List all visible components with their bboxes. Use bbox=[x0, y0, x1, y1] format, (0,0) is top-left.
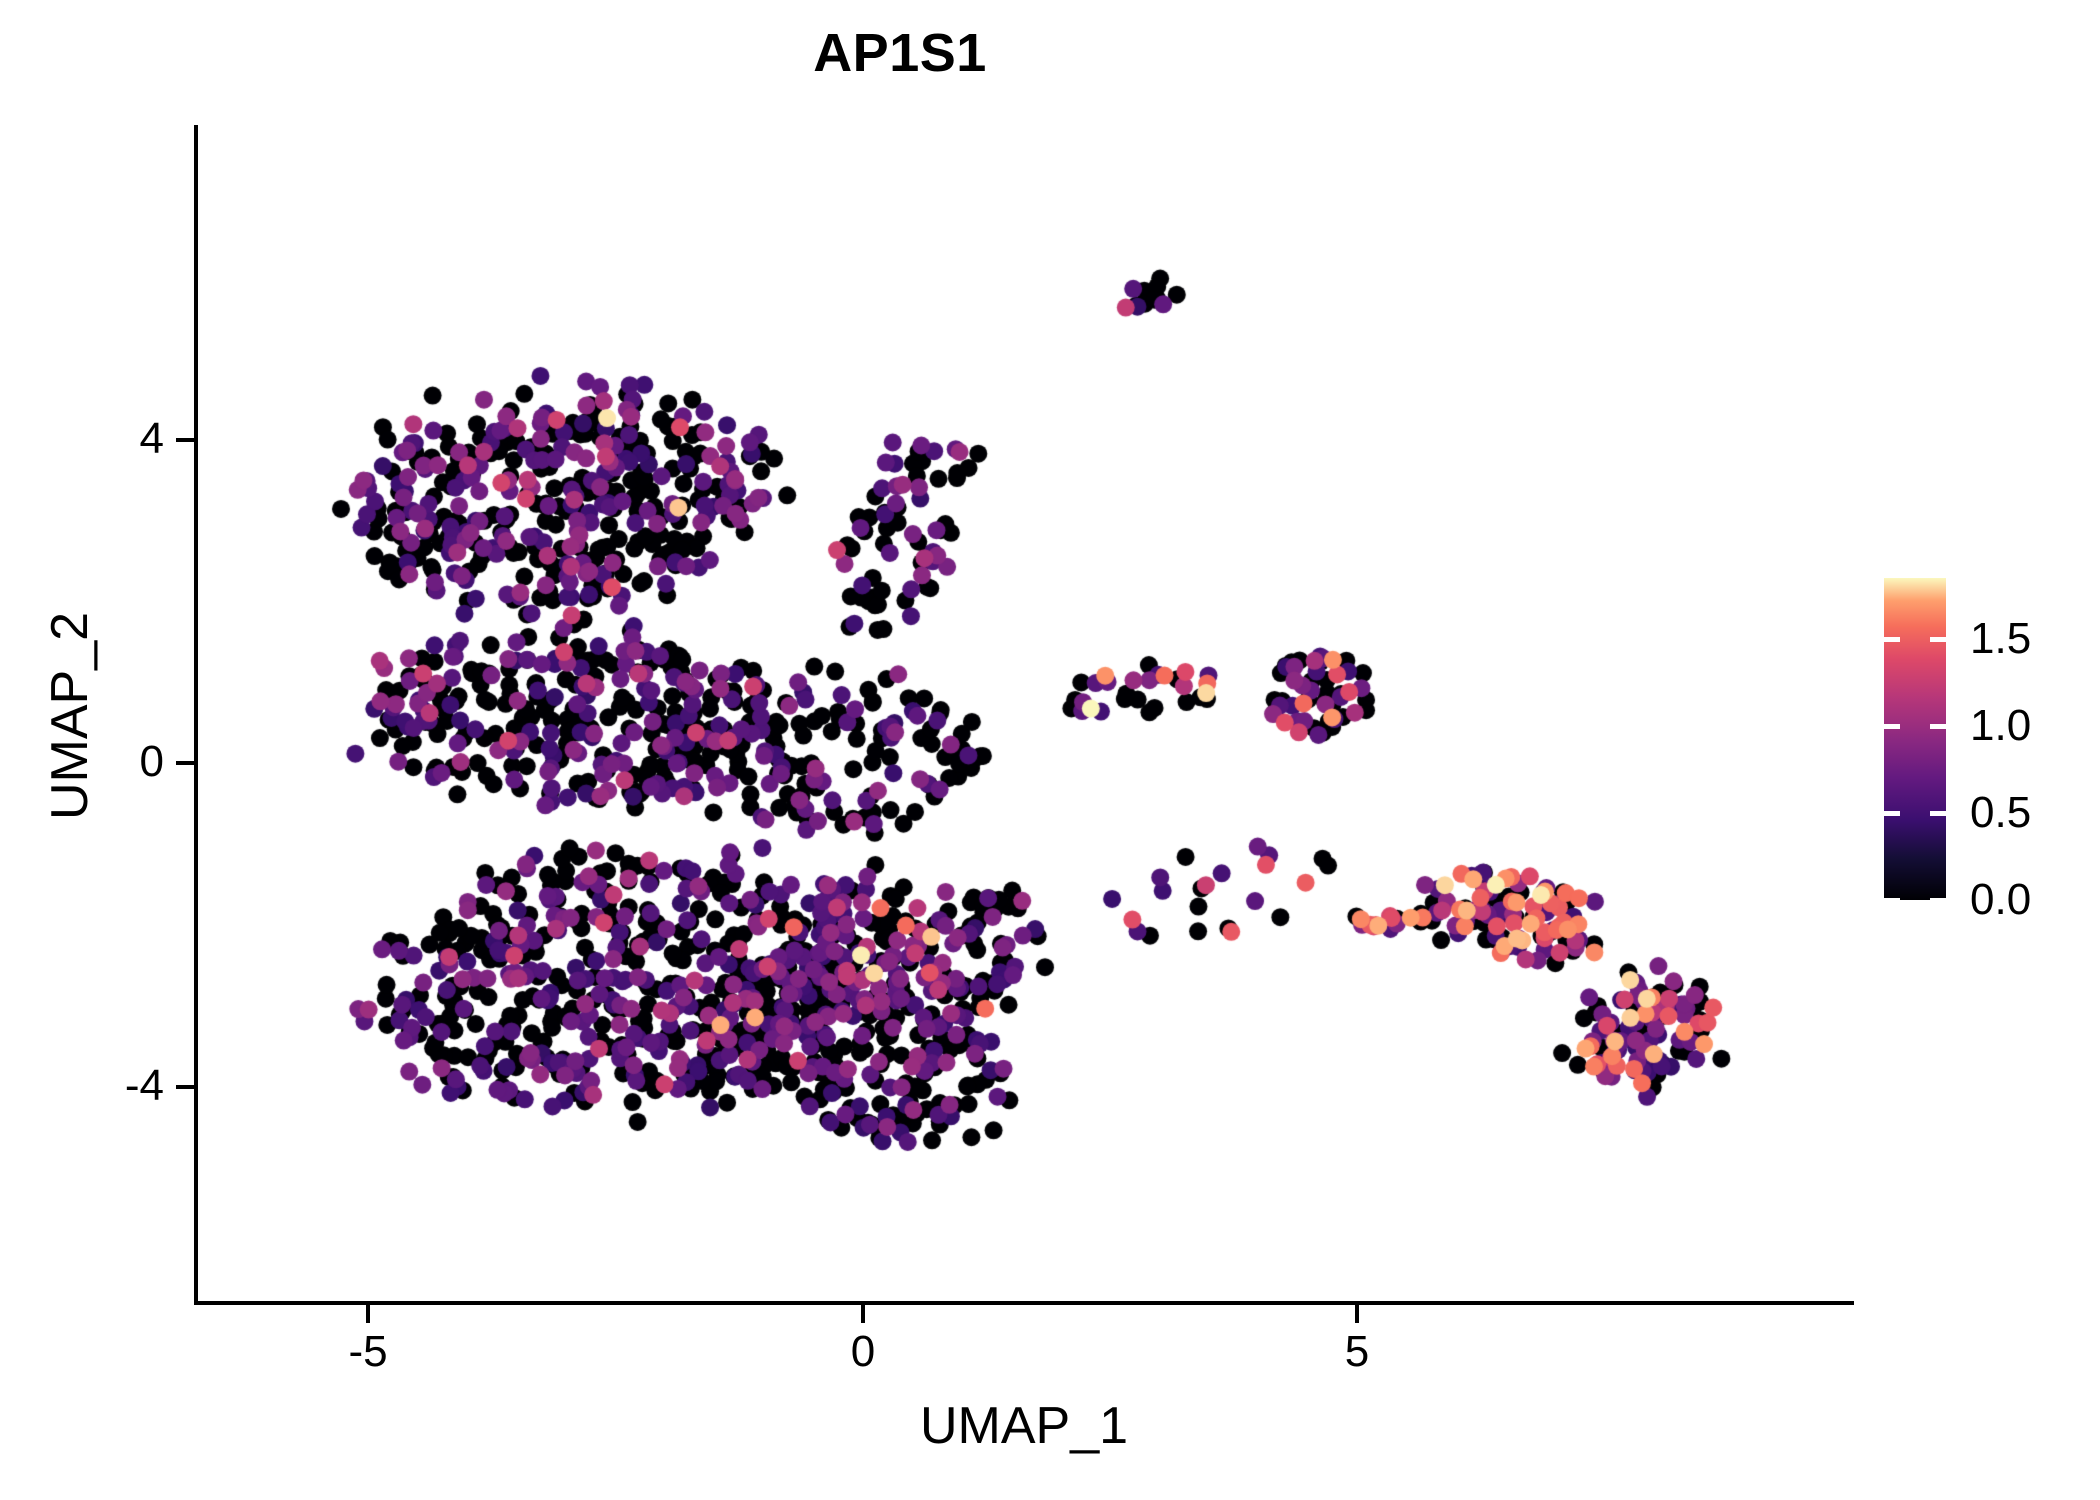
color-legend-gradient-bar bbox=[1884, 578, 1946, 900]
scatter-canvas bbox=[0, 0, 2100, 1500]
umap-feature-plot: AP1S1 40-4 -505 UMAP_2 UMAP_1 1.51.00.50… bbox=[0, 0, 2100, 1500]
color-legend-tick-mark bbox=[1930, 724, 1946, 729]
color-legend-tick-mark bbox=[1884, 724, 1900, 729]
color-legend-tick-label: 0.0 bbox=[1970, 878, 2031, 922]
y-tick-label: 4 bbox=[140, 417, 164, 461]
y-tick-label: -4 bbox=[125, 1064, 164, 1108]
color-legend-tick-mark bbox=[1884, 637, 1900, 642]
x-tick-mark bbox=[861, 1305, 865, 1323]
color-legend-tick-label: 1.5 bbox=[1970, 617, 2031, 661]
x-tick-label: 5 bbox=[1345, 1330, 1369, 1374]
x-axis-line bbox=[194, 1301, 1854, 1305]
y-axis-title: UMAP_2 bbox=[44, 436, 96, 996]
x-tick-label: -5 bbox=[348, 1330, 387, 1374]
y-tick-mark bbox=[176, 438, 194, 442]
x-tick-label: 0 bbox=[851, 1330, 875, 1374]
y-tick-label: 0 bbox=[140, 740, 164, 784]
color-legend-tick-mark bbox=[1930, 637, 1946, 642]
color-legend-tick-mark bbox=[1930, 811, 1946, 816]
color-legend-tick-label: 0.5 bbox=[1970, 791, 2031, 835]
y-tick-mark bbox=[176, 761, 194, 765]
y-tick-mark bbox=[176, 1085, 194, 1089]
color-legend-tick-mark bbox=[1884, 898, 1900, 903]
color-legend-tick-mark bbox=[1884, 811, 1900, 816]
color-legend[interactable]: 1.51.00.50.0 bbox=[1884, 578, 2084, 900]
color-legend-tick-label: 1.0 bbox=[1970, 704, 2031, 748]
x-tick-mark bbox=[366, 1305, 370, 1323]
y-axis-line bbox=[194, 125, 198, 1305]
color-legend-tick-mark bbox=[1930, 898, 1946, 903]
scatter-plot-area bbox=[0, 0, 2100, 1500]
x-tick-mark bbox=[1355, 1305, 1359, 1323]
x-axis-title: UMAP_1 bbox=[194, 1400, 1854, 1452]
